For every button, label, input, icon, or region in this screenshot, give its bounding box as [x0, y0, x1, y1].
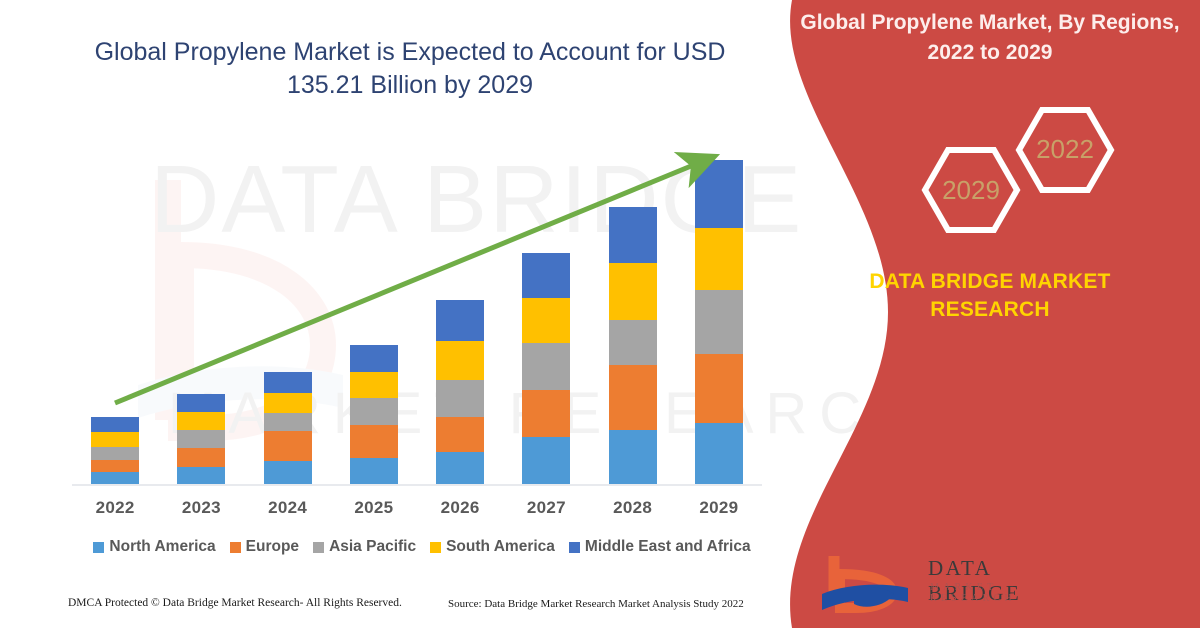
bar-segment	[522, 437, 570, 484]
bar-segment	[609, 320, 657, 365]
x-axis-label-2024: 2024	[245, 498, 331, 524]
brand-panel: Global Propylene Market, By Regions, 202…	[760, 0, 1200, 628]
brand-line-2: RESEARCH	[930, 298, 1049, 321]
x-axis-label-2029: 2029	[676, 498, 762, 524]
stacked-bar	[436, 300, 484, 484]
bar-column-2024	[245, 372, 331, 484]
legend-item-south-america[interactable]: South America	[430, 538, 555, 556]
bar-segment	[609, 207, 657, 263]
bar-segment	[264, 431, 312, 461]
bar-segment	[264, 393, 312, 413]
bar-segment	[264, 372, 312, 393]
bar-segment	[695, 290, 743, 354]
bar-column-2027	[503, 253, 589, 484]
bar-segment	[695, 354, 743, 423]
stacked-bar	[695, 160, 743, 484]
bar-segment	[177, 394, 225, 412]
legend-item-middle-east-and-africa[interactable]: Middle East and Africa	[569, 538, 751, 556]
legend-label: North America	[109, 538, 215, 556]
legend-label: Middle East and Africa	[585, 538, 751, 556]
stacked-bar-group	[72, 150, 762, 484]
bar-column-2025	[331, 345, 417, 484]
bar-segment	[350, 398, 398, 425]
x-axis-label-2025: 2025	[331, 498, 417, 524]
bar-segment	[177, 448, 225, 467]
bar-column-2026	[417, 300, 503, 484]
bar-segment	[522, 298, 570, 343]
legend-swatch-icon	[313, 542, 324, 553]
bar-segment	[522, 343, 570, 390]
bar-segment	[436, 341, 484, 380]
brand-name: DATA BRIDGE MARKET RESEARCH	[790, 268, 1190, 323]
chart-legend: North AmericaEuropeAsia PacificSouth Ame…	[72, 538, 772, 556]
legend-item-asia-pacific[interactable]: Asia Pacific	[313, 538, 416, 556]
brand-line-1: DATA BRIDGE MARKET	[869, 270, 1110, 293]
legend-item-europe[interactable]: Europe	[230, 538, 299, 556]
stacked-bar	[350, 345, 398, 484]
bar-segment	[350, 345, 398, 372]
x-axis-label-2028: 2028	[590, 498, 676, 524]
legend-swatch-icon	[93, 542, 104, 553]
chart-area: 20222023202420252026202720282029 North A…	[0, 0, 790, 628]
bar-segment	[695, 423, 743, 484]
bar-segment	[177, 467, 225, 484]
source-text: Source: Data Bridge Market Research Mark…	[448, 598, 744, 610]
hexagon-2029-label: 2029	[942, 175, 1000, 205]
bar-segment	[609, 263, 657, 320]
legend-label: Asia Pacific	[329, 538, 416, 556]
x-axis-label-2022: 2022	[72, 498, 158, 524]
infographic-canvas: DATA BRIDGE MARKET RESEARCH Global Propy…	[0, 0, 1200, 628]
hexagon-badges: 2022 2029	[820, 100, 1160, 250]
stacked-bar	[609, 207, 657, 484]
stacked-bar	[91, 417, 139, 484]
bar-segment	[350, 425, 398, 458]
legend-swatch-icon	[230, 542, 241, 553]
bar-segment	[91, 447, 139, 460]
bar-segment	[436, 452, 484, 484]
x-axis-label-2023: 2023	[158, 498, 244, 524]
legend-label: Europe	[246, 538, 299, 556]
stacked-bar	[264, 372, 312, 484]
legend-swatch-icon	[569, 542, 580, 553]
stacked-bar	[522, 253, 570, 484]
bar-segment	[695, 228, 743, 290]
copyright-text: DMCA Protected © Data Bridge Market Rese…	[68, 597, 402, 609]
stacked-bar	[177, 394, 225, 484]
bar-column-2028	[590, 207, 676, 484]
bar-segment	[695, 160, 743, 228]
legend-swatch-icon	[430, 542, 441, 553]
bar-segment	[436, 300, 484, 341]
bar-segment	[436, 417, 484, 452]
bar-column-2022	[72, 417, 158, 484]
bar-segment	[264, 413, 312, 431]
bar-column-2023	[158, 394, 244, 484]
bar-segment	[609, 430, 657, 484]
bar-segment	[264, 461, 312, 484]
panel-title: Global Propylene Market, By Regions, 202…	[790, 8, 1190, 68]
bar-segment	[609, 365, 657, 430]
bar-segment	[522, 390, 570, 437]
hexagon-2022-label: 2022	[1036, 134, 1094, 164]
bar-segment	[177, 412, 225, 430]
bar-segment	[91, 432, 139, 447]
bar-segment	[350, 372, 398, 398]
bar-segment	[436, 380, 484, 417]
legend-item-north-america[interactable]: North America	[93, 538, 215, 556]
bar-segment	[91, 472, 139, 484]
legend-label: South America	[446, 538, 555, 556]
company-logo: DATA BRIDGE MARKET RESEARCH	[820, 552, 1080, 614]
bar-segment	[522, 253, 570, 298]
x-axis-label-2027: 2027	[503, 498, 589, 524]
x-axis-labels: 20222023202420252026202720282029	[72, 498, 762, 524]
x-axis-line	[72, 484, 762, 486]
logo-tagline: MARKET RESEARCH	[930, 582, 1080, 604]
x-axis-label-2026: 2026	[417, 498, 503, 524]
bar-column-2029	[676, 160, 762, 484]
bar-segment	[177, 430, 225, 448]
bar-segment	[91, 417, 139, 432]
bar-segment	[91, 460, 139, 472]
bar-segment	[350, 458, 398, 484]
